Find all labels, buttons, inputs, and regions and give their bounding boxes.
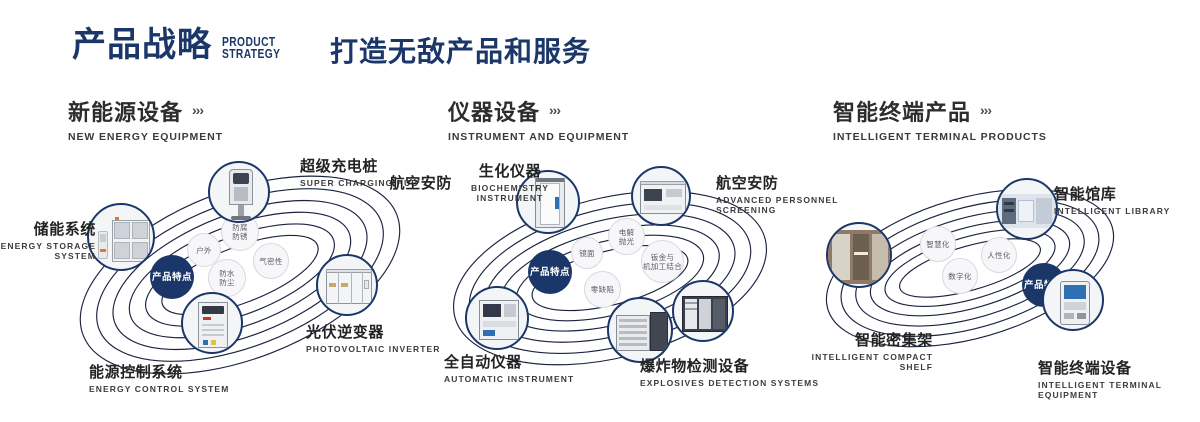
node-charging-pile[interactable] [208,161,270,223]
caption-cn: 智能终端设备 [1038,357,1200,378]
caption-en: EXPLOSIVES DETECTION SYSTEMS [640,378,819,388]
group-heading-new-energy: 新能源设备››› NEW ENERGY EQUIPMENT [68,95,223,143]
feature-label: 智慧化 [926,240,949,249]
explosives-detector-icon [609,299,671,361]
caption-en: PHOTOVOLTAIC INVERTER [306,344,441,354]
node-screening-machine[interactable] [672,280,734,342]
feature-label: 气密性 [259,257,282,266]
feature-label: 防水 防尘 [219,269,235,287]
caption-en: INTELLIGENT TERMINAL EQUIPMENT [1038,380,1200,400]
page-title: 产品战略 PRODUCT STRATEGY [72,28,293,62]
terminal-kiosk-icon [1044,271,1102,329]
group-heading-instrument: 仪器设备››› INSTRUMENT AND EQUIPMENT [448,95,629,143]
group-heading-en: INTELLIGENT TERMINAL PRODUCTS [833,131,1047,143]
caption-en: INTELLIGENT LIBRARY [1054,206,1170,216]
node-control-cabinet[interactable] [181,292,243,354]
caption-en: BIOCHEMISTRY INSTRUMENT [455,183,565,203]
feature-bubble-4: 气密性 [253,243,289,279]
screening-machine-icon [674,282,732,340]
group-heading-cn: 智能终端产品 [833,95,971,127]
core-label: 产品特点 [152,272,192,283]
feature-label: 人性化 [987,251,1010,260]
feature-bubble-1: 镜面 [571,237,603,269]
caption-compact-shelf: 智能密集架 INTELLIGENT COMPACT SHELF [790,329,933,372]
node-terminal-kiosk[interactable] [1042,269,1104,331]
feature-bubble-3: 人性化 [981,237,1017,273]
caption-biochemistry: 生化仪器 BIOCHEMISTRY INSTRUMENT [455,160,565,203]
smart-library-icon [998,180,1056,238]
feature-label: 户外 [196,246,212,255]
feature-label: 数字化 [948,272,971,281]
caption-cn: 智能馆库 [1054,183,1170,204]
feature-label: 零缺陷 [591,285,614,294]
caption-en: ENERGY CONTROL SYSTEM [89,384,229,394]
feature-bubble-3: 钣金与 机加工结合 [641,240,684,283]
caption-cn: 能源控制系统 [89,361,229,382]
chevron-right-icon: ››› [980,102,991,118]
caption-energy-storage: 储能系统 ENERGY STORAGE SYSTEM [0,218,96,261]
chevron-right-icon: ››› [192,102,203,118]
energy-storage-cabinet-icon [89,205,153,269]
caption-automatic-instrument: 全自动仪器 AUTOMATIC INSTRUMENT [444,351,574,384]
biochemistry-analyzer-icon [633,168,689,224]
group-heading-en: NEW ENERGY EQUIPMENT [68,131,223,143]
page-subtitle: 打造无敌产品和服务 [330,30,591,70]
caption-cn: 生化仪器 [455,160,565,181]
caption-smart-library: 智能馆库 INTELLIGENT LIBRARY [1054,183,1170,216]
caption-terminal-equipment: 智能终端设备 INTELLIGENT TERMINAL EQUIPMENT [1038,357,1200,400]
compact-shelf-icon [828,224,890,286]
node-compact-shelf[interactable] [826,222,892,288]
caption-cn: 智能密集架 [790,329,933,350]
automatic-instrument-icon [467,288,527,348]
caption-cn: 航空安防 [360,172,452,193]
group-heading-intelligent: 智能终端产品››› INTELLIGENT TERMINAL PRODUCTS [833,95,1047,143]
caption-en: AUTOMATIC INSTRUMENT [444,374,574,384]
caption-en: INTELLIGENT COMPACT SHELF [790,352,933,372]
feature-label: 钣金与 机加工结合 [643,253,682,271]
node-smart-library[interactable] [996,178,1058,240]
caption-cn: 全自动仪器 [444,351,574,372]
feature-bubble-2: 数字化 [942,258,978,294]
caption-cn: 光伏逆变器 [306,321,441,342]
node-energy-storage[interactable] [87,203,155,271]
feature-label: 电解 抛光 [619,228,635,246]
feature-bubble-1: 智慧化 [920,226,956,262]
title-cn: 产品战略 [72,28,212,62]
title-en: PRODUCT STRATEGY [222,36,280,60]
charging-pile-icon [210,163,268,221]
node-explosives-detector[interactable] [607,297,673,363]
poster-canvas: 产品战略 PRODUCT STRATEGY 打造无敌产品和服务 新能源设备›››… [0,0,1200,422]
caption-cn: 储能系统 [0,218,96,239]
caption-pv-inverter: 光伏逆变器 PHOTOVOLTAIC INVERTER [306,321,441,354]
caption-aviation-security-left: 航空安防 [360,172,452,193]
caption-control-system: 能源控制系统 ENERGY CONTROL SYSTEM [89,361,229,394]
pv-inverter-cabinet-icon [318,256,376,314]
group-heading-cn: 仪器设备 [448,95,540,127]
control-cabinet-icon [183,294,241,352]
core-label: 产品特点 [530,267,570,278]
group-heading-en: INSTRUMENT AND EQUIPMENT [448,131,629,143]
caption-en: ENERGY STORAGE SYSTEM [0,241,96,261]
core-bubble-new-energy: 产品特点 [150,255,194,299]
chevron-right-icon: ››› [549,102,560,118]
node-automatic-instrument[interactable] [465,286,529,350]
feature-label: 镜面 [579,249,595,258]
node-biochemistry-analyzer[interactable] [631,166,691,226]
core-bubble-instrument: 产品特点 [528,250,572,294]
node-pv-inverter[interactable] [316,254,378,316]
feature-label: 防腐 防锈 [232,223,248,241]
group-heading-cn: 新能源设备 [68,95,183,127]
